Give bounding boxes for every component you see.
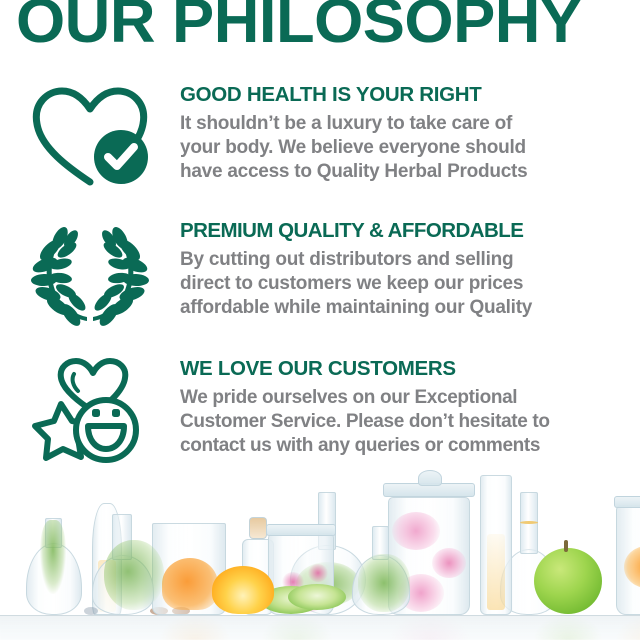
green-basil (358, 554, 410, 612)
feature-body-line: direct to customers we keep our prices (180, 272, 626, 296)
jar-rim (614, 496, 640, 508)
feature-body-line: We pride ourselves on our Exceptional (180, 386, 626, 410)
feature-heading: PREMIUM QUALITY & AFFORDABLE (180, 218, 626, 244)
orange-slice (162, 558, 218, 610)
feature-heading: GOOD HEALTH IS YOUR RIGHT (180, 82, 626, 108)
lemon-half (212, 566, 274, 614)
cucumber-slice (288, 584, 346, 610)
feature-text: GOOD HEALTH IS YOUR RIGHT It shouldn’t b… (180, 82, 640, 184)
feature-body-line: your body. We believe everyone should (180, 136, 626, 160)
lab-glassware-photo (0, 470, 640, 640)
feature-text: PREMIUM QUALITY & AFFORDABLE By cutting … (180, 218, 640, 320)
jar-lid-knob (418, 470, 442, 486)
seed-pod (84, 607, 98, 615)
feature-body-line: By cutting out distributors and selling (180, 248, 626, 272)
feature-body: By cutting out distributors and selling … (180, 248, 626, 320)
dropper-cap (249, 517, 267, 539)
feature-item-good-health: GOOD HEALTH IS YOUR RIGHT It shouldn’t b… (0, 82, 640, 196)
pink-orchid (392, 512, 440, 550)
calibration-mark (520, 521, 538, 524)
feature-body: It shouldn’t be a luxury to take care of… (180, 112, 626, 184)
feature-body-line: have access to Quality Herbal Products (180, 160, 626, 184)
feature-body-line: It shouldn’t be a luxury to take care of (180, 112, 626, 136)
reflection-glassware (0, 615, 640, 640)
feature-body-line: affordable while maintaining our Quality (180, 296, 626, 320)
feature-body-line: Customer Service. Please don’t hesitate … (180, 410, 626, 434)
feature-text: WE LOVE OUR CUSTOMERS We pride ourselves… (180, 356, 640, 458)
our-philosophy-infographic: OUR PHILOSOPHY GOOD HEALTH IS YOUR RIGHT… (0, 0, 640, 640)
feature-item-premium-quality: PREMIUM QUALITY & AFFORDABLE By cutting … (0, 218, 640, 334)
feature-heading: WE LOVE OUR CUSTOMERS (180, 356, 626, 382)
pink-flower (308, 564, 328, 582)
feature-body: We pride ourselves on our Exceptional Cu… (180, 386, 626, 458)
pink-orchid (432, 548, 466, 578)
green-leaves (104, 540, 164, 610)
heart-star-smiley-icon (0, 356, 180, 466)
heart-check-icon (0, 82, 180, 188)
green-sprout (40, 520, 66, 594)
cylinder-gradations (487, 534, 505, 610)
green-apple (534, 548, 602, 614)
apple-stem (564, 540, 568, 552)
feature-list: GOOD HEALTH IS YOUR RIGHT It shouldn’t b… (0, 82, 640, 474)
jar-rim (266, 524, 336, 536)
feature-item-we-love-customers: WE LOVE OUR CUSTOMERS We pride ourselves… (0, 356, 640, 474)
laurel-wreath-icon (0, 218, 180, 326)
page-title: OUR PHILOSOPHY (16, 0, 640, 57)
feature-body-line: contact us with any queries or comments (180, 434, 626, 458)
